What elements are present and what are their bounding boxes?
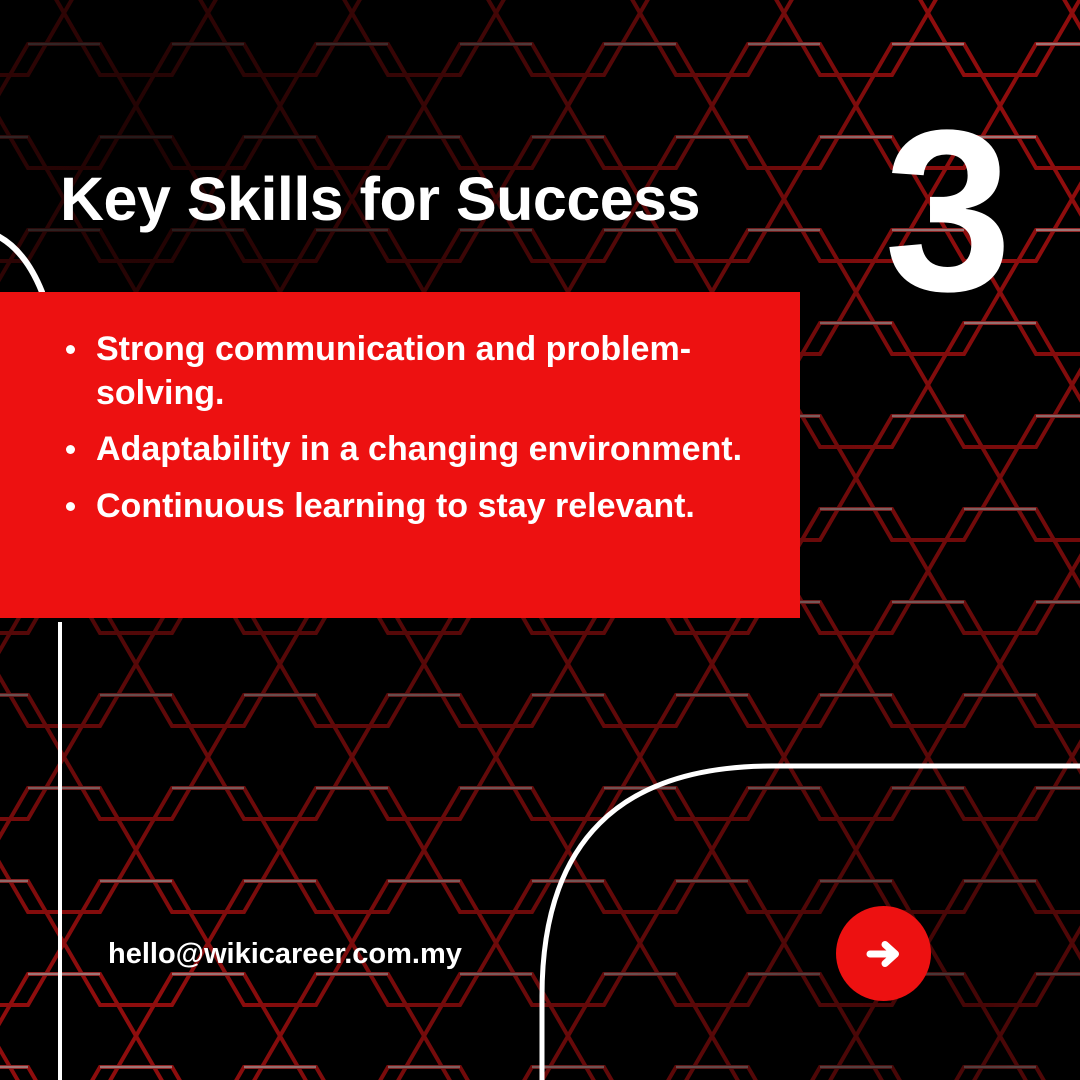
list-item: Adaptability in a changing environment.	[62, 428, 760, 472]
key-points-panel: Strong communication and problem-solving…	[0, 292, 800, 618]
contact-email: hello@wikicareer.com.my	[108, 938, 462, 971]
next-slide-button[interactable]	[836, 906, 931, 1001]
bullet-dot-icon	[66, 445, 75, 454]
list-item-label: Strong communication and problem-solving…	[96, 330, 691, 412]
bullet-dot-icon	[66, 502, 75, 511]
list-item-label: Adaptability in a changing environment.	[96, 430, 742, 468]
bullet-dot-icon	[66, 345, 75, 354]
step-number: 3	[884, 96, 1008, 326]
list-item: Strong communication and problem-solving…	[62, 328, 760, 415]
list-item-label: Continuous learning to stay relevant.	[96, 487, 695, 525]
page-title: Key Skills for Success	[60, 169, 700, 230]
key-points-list: Strong communication and problem-solving…	[62, 328, 760, 528]
social-post-slide: 3 Key Skills for Success Strong communic…	[0, 0, 1080, 1080]
arrow-right-icon	[858, 928, 910, 980]
list-item: Continuous learning to stay relevant.	[62, 485, 760, 529]
